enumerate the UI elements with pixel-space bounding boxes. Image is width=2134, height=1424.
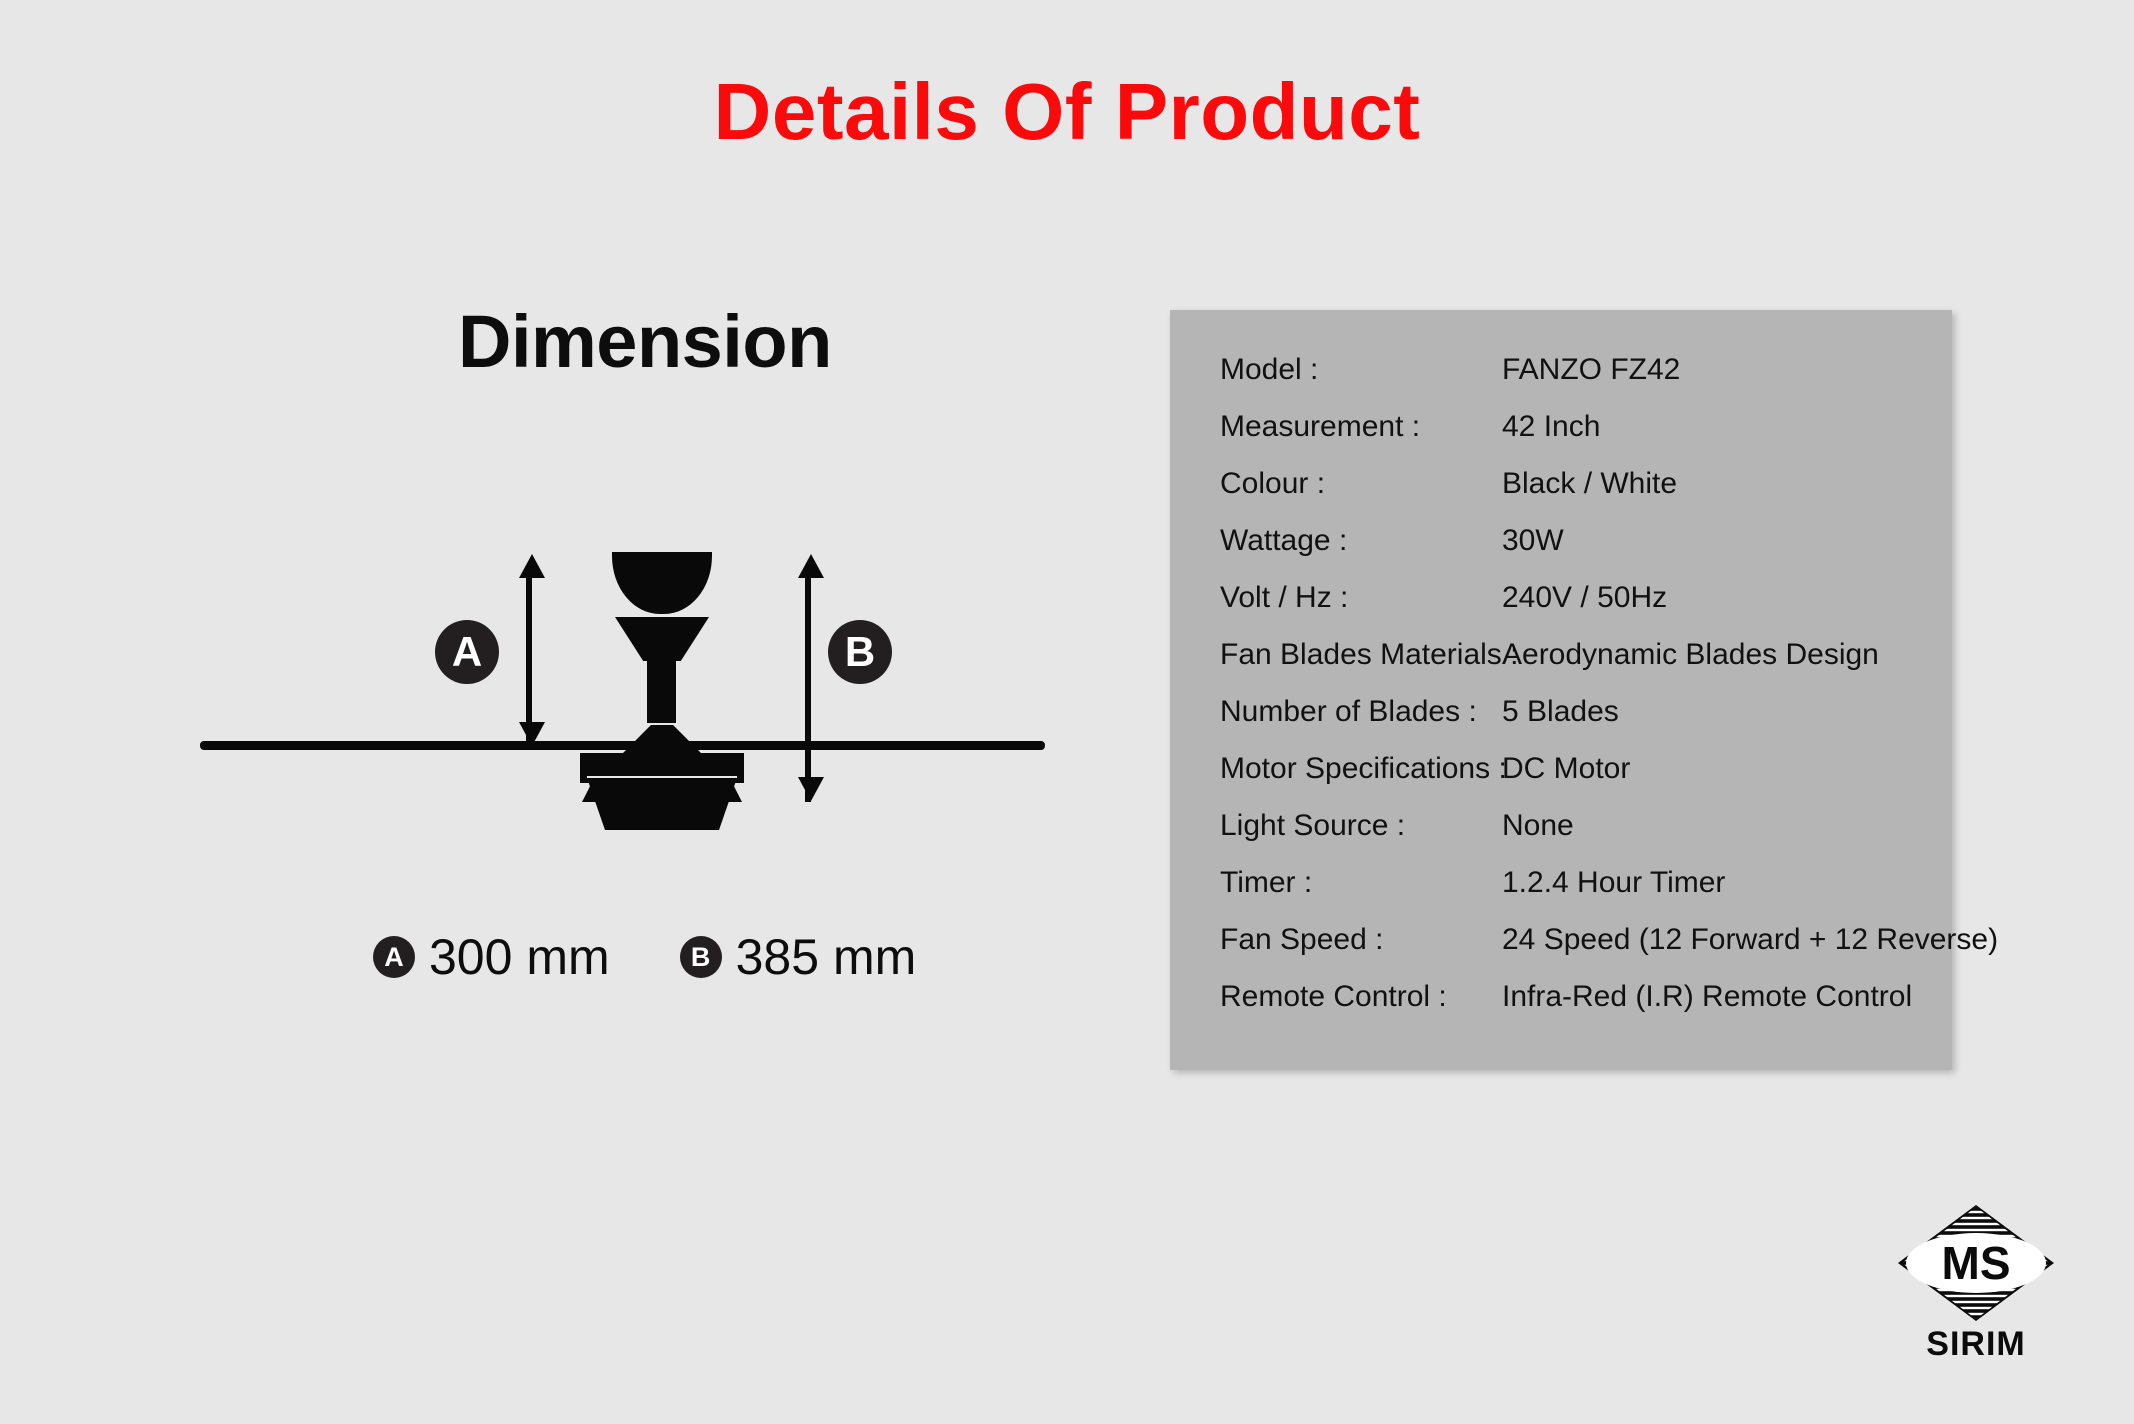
specifications-list: Model : FANZO FZ42 Measurement : 42 Inch… [1220, 353, 1952, 1037]
dimension-legend: A 300 mm B 385 mm [373, 932, 916, 982]
motor-seam-line [616, 723, 708, 725]
table-row: Motor Specifications : DC Motor [1220, 752, 1952, 809]
table-row: Volt / Hz : 240V / 50Hz [1220, 581, 1952, 638]
ms-text: MS [1942, 1237, 2011, 1289]
spec-value: Black / White [1502, 467, 1677, 501]
legend-value-a: 300 mm [429, 932, 610, 982]
canopy-seam-line [616, 614, 708, 616]
spec-value: 1.2.4 Hour Timer [1502, 866, 1725, 900]
legend-item-b: B 385 mm [680, 932, 917, 982]
spec-label: Fan Blades Materials : [1220, 638, 1502, 672]
table-row: Colour : Black / White [1220, 467, 1952, 524]
product-details-slide: Details Of Product Dimension A B A 300 m… [0, 0, 2134, 1424]
fan-canopy-taper-icon [615, 617, 709, 661]
legend-item-a: A 300 mm [373, 932, 610, 982]
spec-label: Wattage : [1220, 524, 1502, 558]
legend-value-b: 385 mm [736, 932, 917, 982]
spec-value: 240V / 50Hz [1502, 581, 1667, 615]
spec-label: Colour : [1220, 467, 1502, 501]
ms-diamond-icon: MS [1896, 1203, 2056, 1323]
spec-label: Fan Speed : [1220, 923, 1502, 957]
table-row: Remote Control : Infra-Red (I.R) Remote … [1220, 980, 1952, 1037]
spec-value: 5 Blades [1502, 695, 1619, 729]
table-row: Number of Blades : 5 Blades [1220, 695, 1952, 752]
table-row: Wattage : 30W [1220, 524, 1952, 581]
ms-sirim-certification-logo: MS SIRIM [1896, 1203, 2056, 1373]
spec-label: Timer : [1220, 866, 1502, 900]
fan-blade-line-icon [200, 741, 1045, 750]
dimension-heading: Dimension [458, 305, 832, 379]
legend-badge-b: B [680, 936, 722, 978]
spec-value: Infra-Red (I.R) Remote Control [1502, 980, 1912, 1014]
spec-label: Volt / Hz : [1220, 581, 1502, 615]
arrow-b-up-head-icon [798, 554, 824, 578]
spec-label: Motor Specifications : [1220, 752, 1502, 786]
table-row: Measurement : 42 Inch [1220, 410, 1952, 467]
table-row: Light Source : None [1220, 809, 1952, 866]
spec-label: Remote Control : [1220, 980, 1502, 1014]
spec-label: Measurement : [1220, 410, 1502, 444]
spec-value: None [1502, 809, 1574, 843]
spec-value: FANZO FZ42 [1502, 353, 1680, 387]
arrow-a-down-head-icon [519, 722, 545, 746]
spec-value: 30W [1502, 524, 1564, 558]
fan-canopy-icon [612, 552, 712, 614]
legend-badge-a: A [373, 936, 415, 978]
spec-value: Aerodynamic Blades Design [1502, 638, 1879, 672]
spec-value: 24 Speed (12 Forward + 12 Reverse) [1502, 923, 1998, 957]
dimension-arrow-a [526, 572, 532, 747]
table-row: Fan Blades Materials : Aerodynamic Blade… [1220, 638, 1952, 695]
table-row: Timer : 1.2.4 Hour Timer [1220, 866, 1952, 923]
spec-value: 42 Inch [1502, 410, 1600, 444]
specifications-panel: Model : FANZO FZ42 Measurement : 42 Inch… [1170, 310, 1952, 1070]
fan-dimension-diagram: A B [150, 520, 1100, 850]
fan-downrod-icon [647, 661, 676, 723]
spec-value: DC Motor [1502, 752, 1630, 786]
arrow-b-down-head-icon [798, 777, 824, 801]
dimension-arrow-b [805, 572, 811, 802]
marker-badge-a: A [435, 620, 499, 684]
table-row: Model : FANZO FZ42 [1220, 353, 1952, 410]
motor-base-seam-line [587, 776, 737, 778]
arrow-a-up-head-icon [519, 554, 545, 578]
sirim-wordmark: SIRIM [1896, 1327, 2056, 1361]
marker-badge-b: B [828, 620, 892, 684]
fan-motor-base-icon [587, 778, 737, 830]
spec-label: Model : [1220, 353, 1502, 387]
table-row: Fan Speed : 24 Speed (12 Forward + 12 Re… [1220, 923, 1952, 980]
spec-label: Number of Blades : [1220, 695, 1502, 729]
page-title: Details Of Product [0, 72, 2134, 152]
spec-label: Light Source : [1220, 809, 1502, 843]
